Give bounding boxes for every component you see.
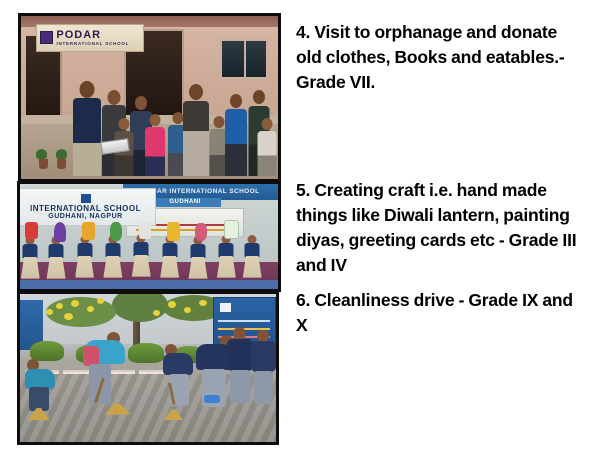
photo-craft-display: PODAR INTERNATIONAL SCHOOL GUDHANI INTER… [17,181,281,292]
person-in-blazer [72,81,102,176]
yellow-flower [46,309,53,315]
flower-pot [57,159,66,169]
yellow-flower [87,306,94,312]
hedge [128,343,164,363]
photo-cleanliness-drive [17,291,279,445]
diwali-lantern [82,222,95,240]
diwali-lantern [167,222,180,241]
student-sweeping [25,359,59,411]
school-logo-icon [81,194,91,203]
shrub-foliage [46,297,116,327]
photo-2-scene: PODAR INTERNATIONAL SCHOOL GUDHANI INTER… [20,184,278,289]
caption-column: 4. Visit to orphanage and donate old clo… [296,0,596,450]
white-banner-line-1: INTERNATIONAL SCHOOL [30,204,141,213]
diwali-lantern [110,222,122,241]
student-standing [250,330,276,404]
blue-banner-line-2: GUDHANI [169,199,201,205]
podar-logo-icon [40,31,53,44]
photo-1-scene: PODAR INTERNATIONAL SCHOOL [21,16,278,179]
signboard-text: PODAR INTERNATIONAL SCHOOL [56,30,129,47]
blue-banner-subtitle: GUDHANI [149,198,221,207]
child-with-book [257,118,277,176]
white-banner-line-2: GUDHANI, NAGPUR [48,213,122,220]
greeting-card [25,222,38,239]
school-signboard: PODAR INTERNATIONAL SCHOOL [36,24,144,52]
floor-mat [20,280,278,289]
greeting-card [224,220,239,239]
potted-plant [36,149,47,159]
photo-3-scene [20,294,276,442]
caption-item-5: 5. Creating craft i.e. hand made things … [296,178,584,278]
dustpan [204,395,220,403]
caption-item-4: 4. Visit to orphanage and donate old clo… [296,20,584,95]
flower-pot [39,159,48,169]
caption-item-6: 6. Cleanliness drive - Grade IX and X [296,288,584,338]
potted-plant [56,149,67,159]
student-sweeping [163,344,197,406]
yellow-flower [64,313,73,320]
window [220,39,268,79]
banner-logo-icon [220,303,231,312]
person-adult-grey [183,84,210,176]
student-sweeping [81,332,125,404]
yellow-flower [56,303,63,309]
child-in-pink [144,114,165,176]
diwali-lantern [54,222,66,242]
photo-orphanage-visit: PODAR INTERNATIONAL SCHOOL [18,13,281,182]
signboard-line-2: INTERNATIONAL SCHOOL [56,42,129,47]
greeting-card [139,222,151,239]
white-banner: INTERNATIONAL SCHOOL GUDHANI, NAGPUR [20,188,156,226]
teen-in-blue-jersey [224,94,248,176]
blue-banner-line-1: PODAR INTERNATIONAL SCHOOL [142,188,260,195]
signboard-line-1: PODAR [56,30,129,41]
diwali-lantern [195,223,207,241]
